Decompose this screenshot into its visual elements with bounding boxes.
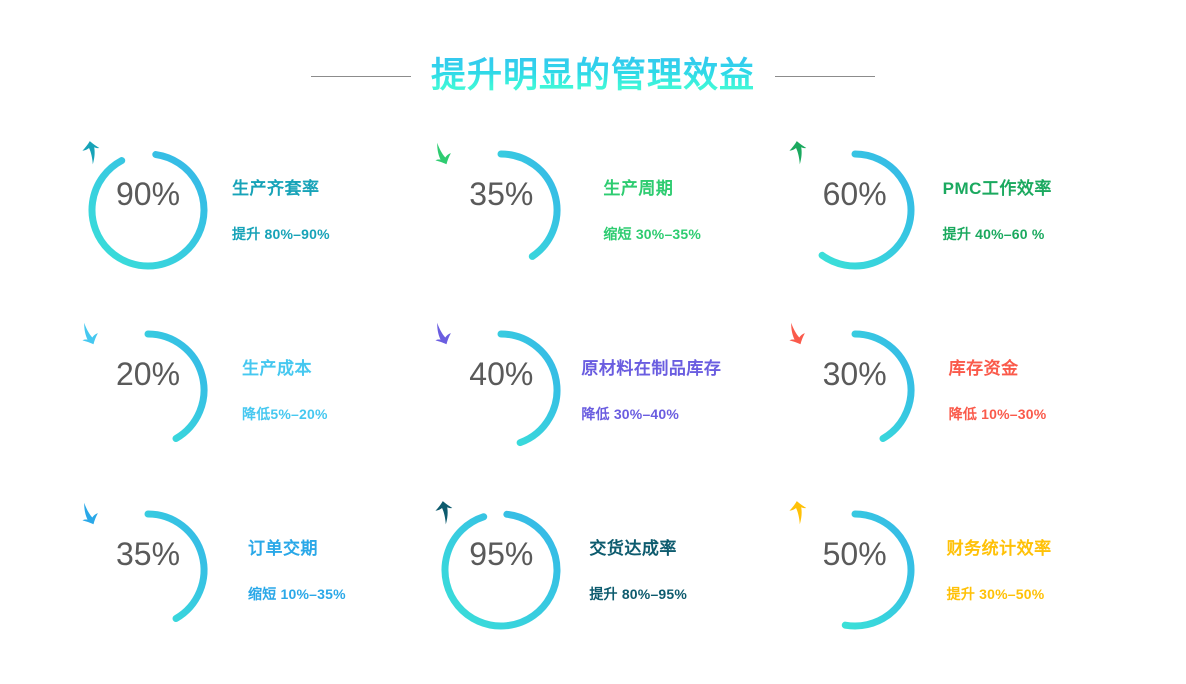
metric-cell: 35%生产周期缩短 30%–35%	[431, 120, 784, 300]
metric-cell: 60%PMC工作效率提升 40%–60 %	[785, 120, 1138, 300]
metric-label: 财务统计效率	[947, 539, 1052, 559]
arrow-down-icon	[489, 394, 513, 420]
gauge-center: 35%	[78, 500, 218, 640]
gauge-value: 35%	[116, 538, 180, 570]
gauge-ring: 30%	[785, 320, 925, 460]
gauge-ring: 60%	[785, 140, 925, 280]
metric-text-block: 财务统计效率提升 30%–50%	[947, 537, 1052, 602]
metric-cell: 90%生产齐套率提升 80%–90%	[78, 120, 431, 300]
metric-text-block: PMC工作效率提升 40%–60 %	[943, 177, 1052, 242]
page-header: 提升明显的管理效益	[0, 48, 1186, 104]
arrow-up-icon	[489, 574, 513, 600]
arrow-down-icon	[843, 394, 867, 420]
metric-text-block: 生产齐套率提升 80%–90%	[232, 177, 330, 242]
metric-cell: 95%交货达成率提升 80%–95%	[431, 480, 784, 660]
gauge-value: 35%	[469, 178, 533, 210]
metric-detail: 提升 80%–95%	[589, 586, 687, 603]
gauge-ring: 90%	[78, 140, 218, 280]
metric-text-block: 生产成本降低5%–20%	[242, 357, 328, 422]
header-divider-right	[775, 76, 875, 77]
metric-text-block: 原材料在制品库存降低 30%–40%	[581, 357, 721, 422]
gauge-ring: 95%	[431, 500, 571, 640]
arrow-down-icon	[136, 394, 160, 420]
metric-label: 生产周期	[603, 179, 673, 199]
metric-label: 生产齐套率	[232, 179, 320, 199]
gauge-ring: 35%	[431, 140, 571, 280]
gauge-center: 35%	[431, 140, 571, 280]
gauge-center: 40%	[431, 320, 571, 460]
metric-label: 库存资金	[949, 359, 1019, 379]
metric-detail: 缩短 10%–35%	[248, 586, 346, 603]
metric-label: 原材料在制品库存	[581, 359, 721, 379]
metric-text-block: 库存资金降低 10%–30%	[949, 357, 1047, 422]
metric-label: 生产成本	[242, 359, 312, 379]
gauge-center: 20%	[78, 320, 218, 460]
gauge-value: 40%	[469, 358, 533, 390]
metric-detail: 提升 40%–60 %	[943, 226, 1045, 243]
arrow-down-icon	[136, 574, 160, 600]
gauge-ring: 20%	[78, 320, 218, 460]
metric-cell: 50%财务统计效率提升 30%–50%	[785, 480, 1138, 660]
gauge-value: 60%	[823, 178, 887, 210]
metric-label: 订单交期	[248, 539, 318, 559]
metric-text-block: 生产周期缩短 30%–35%	[603, 177, 701, 242]
metric-cell: 35%订单交期缩短 10%–35%	[78, 480, 431, 660]
gauge-value: 50%	[823, 538, 887, 570]
header-divider-left	[311, 76, 411, 77]
metric-label: PMC工作效率	[943, 179, 1052, 199]
metric-cell: 40%原材料在制品库存降低 30%–40%	[431, 300, 784, 480]
arrow-down-icon	[489, 214, 513, 240]
metrics-grid: 90%生产齐套率提升 80%–90%35%生产周期缩短 30%–35%60%PM…	[78, 120, 1138, 660]
gauge-ring: 50%	[785, 500, 925, 640]
metric-detail: 提升 80%–90%	[232, 226, 330, 243]
gauge-value: 20%	[116, 358, 180, 390]
metric-text-block: 交货达成率提升 80%–95%	[589, 537, 687, 602]
gauge-center: 95%	[431, 500, 571, 640]
gauge-value: 30%	[823, 358, 887, 390]
metric-text-block: 订单交期缩短 10%–35%	[248, 537, 346, 602]
metric-cell: 20%生产成本降低5%–20%	[78, 300, 431, 480]
metric-detail: 提升 30%–50%	[947, 586, 1045, 603]
gauge-value: 95%	[469, 538, 533, 570]
gauge-center: 50%	[785, 500, 925, 640]
gauge-value: 90%	[116, 178, 180, 210]
metric-detail: 降低 30%–40%	[581, 406, 679, 423]
metric-detail: 降低 10%–30%	[949, 406, 1047, 423]
gauge-center: 90%	[78, 140, 218, 280]
gauge-center: 60%	[785, 140, 925, 280]
gauge-ring: 35%	[78, 500, 218, 640]
metric-cell: 30%库存资金降低 10%–30%	[785, 300, 1138, 480]
metric-detail: 缩短 30%–35%	[603, 226, 701, 243]
arrow-up-icon	[843, 214, 867, 240]
arrow-up-icon	[843, 574, 867, 600]
gauge-ring: 40%	[431, 320, 571, 460]
arrow-up-icon	[136, 214, 160, 240]
page-title: 提升明显的管理效益	[431, 56, 755, 96]
gauge-center: 30%	[785, 320, 925, 460]
metric-label: 交货达成率	[589, 539, 677, 559]
metric-detail: 降低5%–20%	[242, 406, 328, 423]
